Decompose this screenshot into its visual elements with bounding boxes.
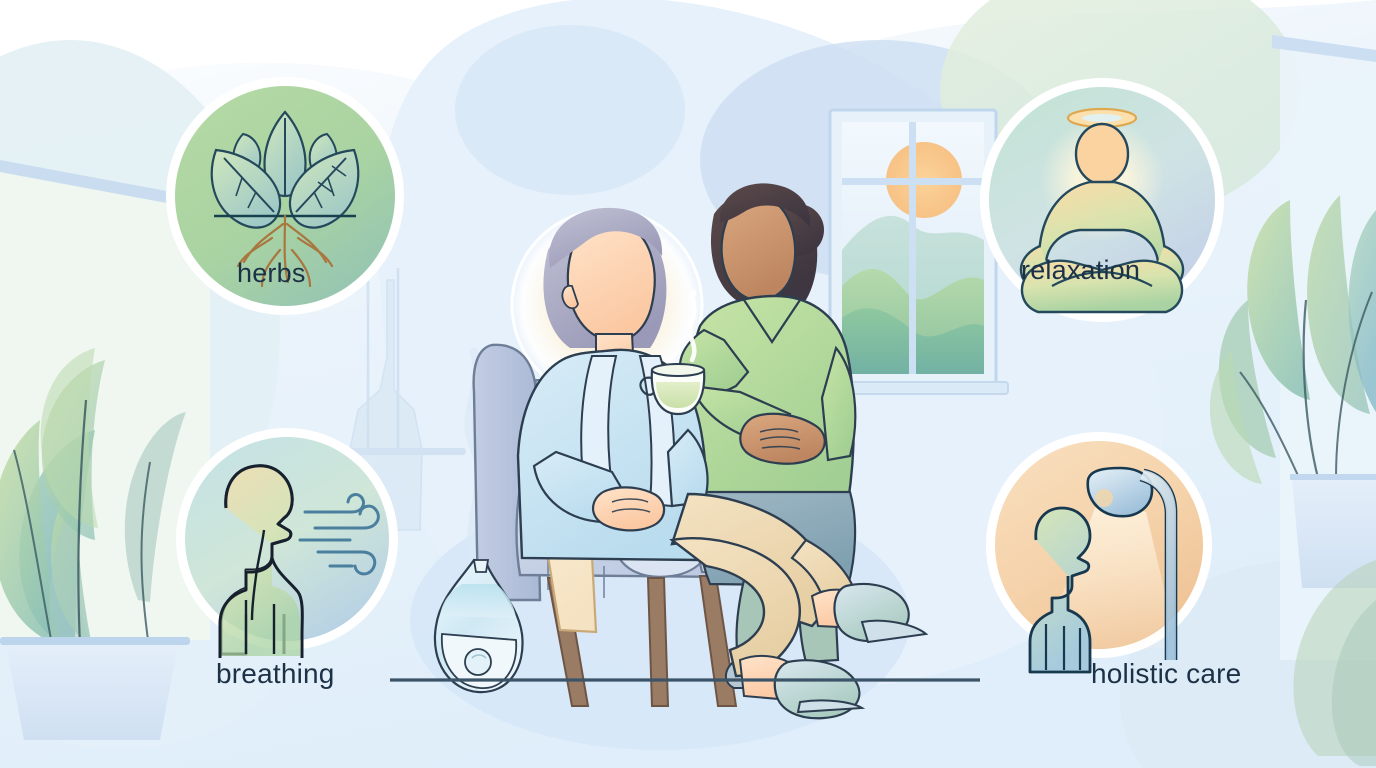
badge-relaxation[interactable] [980,78,1224,322]
badge-breathing[interactable] [176,428,398,658]
badge-herbs[interactable] [166,77,404,315]
meditation-halo-hole [1082,114,1122,122]
badges-layer [0,0,1376,768]
badge-holistic-care[interactable] [986,432,1212,672]
meditation-head [1076,124,1128,184]
illustration-canvas: herbs breathing relaxation holistic care [0,0,1376,768]
shower-glow [1095,489,1113,507]
